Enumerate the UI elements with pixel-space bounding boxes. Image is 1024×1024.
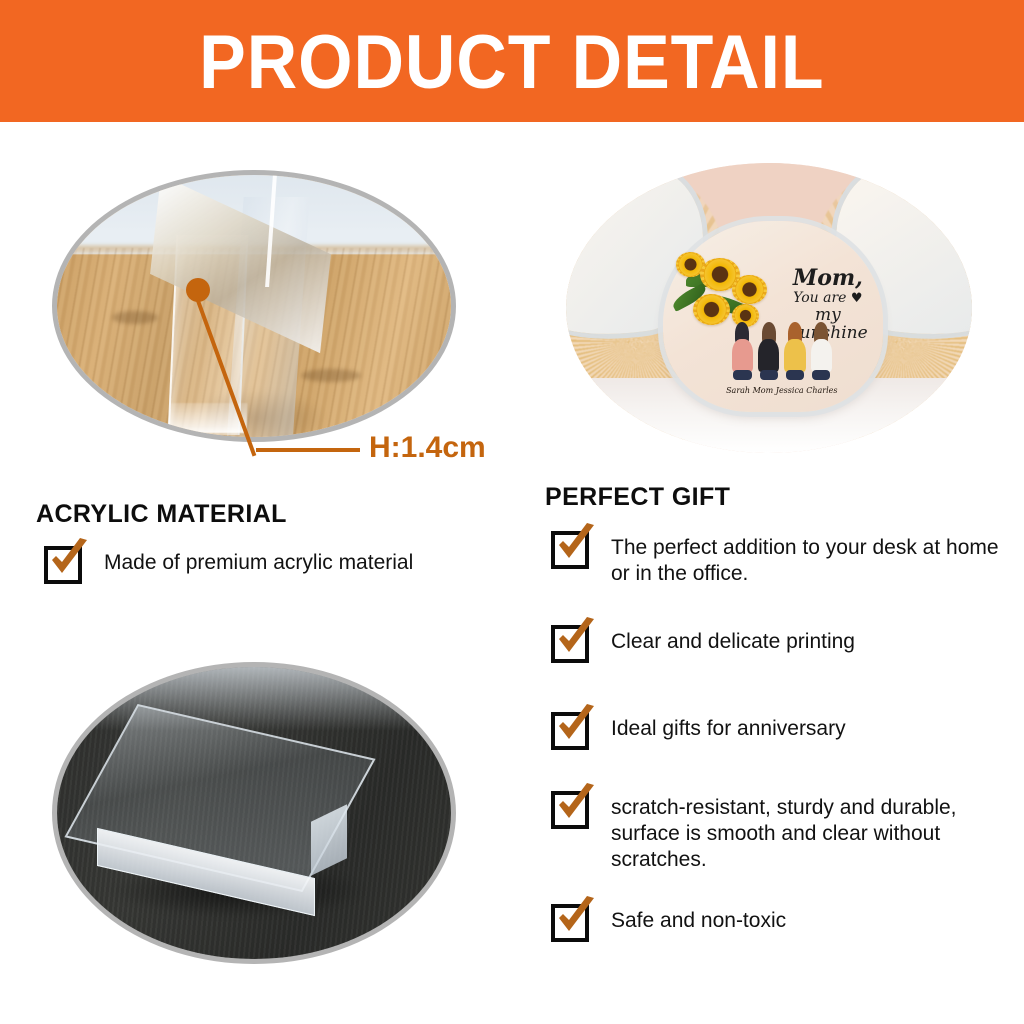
figure-legs <box>812 370 830 380</box>
name-label: Mom <box>753 386 774 395</box>
figure-torso <box>784 339 805 372</box>
header-banner: PRODUCT DETAIL <box>0 0 1024 122</box>
checkbox-checked[interactable] <box>551 531 589 569</box>
wood-background <box>57 175 451 437</box>
checkbox-checked[interactable] <box>551 904 589 942</box>
slate-background <box>57 667 451 959</box>
check-icon <box>553 895 599 941</box>
figure-legs <box>786 370 804 380</box>
plaque-text-line-2-words: You are <box>793 290 846 306</box>
sunflower <box>693 294 730 325</box>
plaque-acrylic-body: Mom, You are ♥ my Sunshine <box>663 221 882 412</box>
feature-item: The perfect addition to your desk at hom… <box>551 531 999 587</box>
name-label: Sarah <box>726 386 750 395</box>
thickness-leader-line-horizontal <box>256 448 360 452</box>
feature-text: Clear and delicate printing <box>611 629 855 655</box>
family-figures <box>729 322 834 379</box>
checkbox-checked[interactable] <box>551 791 589 829</box>
figure-legs <box>760 370 778 380</box>
check-icon <box>553 703 599 749</box>
feature-item: Clear and delicate printing <box>551 625 999 663</box>
figure-charles <box>809 322 834 379</box>
check-icon <box>553 522 599 568</box>
feature-text: Safe and non-toxic <box>611 908 786 934</box>
feature-item: Safe and non-toxic <box>551 904 999 942</box>
figure-torso <box>811 339 832 372</box>
page-title: PRODUCT DETAIL <box>199 25 824 101</box>
heart-icon: ♥ <box>851 291 863 306</box>
plaque-text-line-1: Mom, <box>777 267 878 290</box>
check-icon <box>46 537 92 583</box>
figure-sarah <box>730 322 755 379</box>
feature-item: scratch-resistant, sturdy and durable, s… <box>551 791 1001 873</box>
section-heading-acrylic-material: ACRYLIC MATERIAL <box>36 500 287 529</box>
figure-legs <box>733 370 751 380</box>
butterfly-acrylic-plaque-photo: Mom, You are ♥ my Sunshine <box>566 163 972 453</box>
feature-text: scratch-resistant, sturdy and durable, s… <box>611 795 1001 873</box>
feature-text: Made of premium acrylic material <box>104 550 413 576</box>
figure-jessica <box>782 322 807 379</box>
check-icon <box>553 616 599 662</box>
section-heading-perfect-gift: PERFECT GIFT <box>545 483 730 512</box>
family-name-labels: Sarah Mom Jessica Charles <box>725 386 839 395</box>
checkbox-checked[interactable] <box>551 712 589 750</box>
checkbox-checked[interactable] <box>44 546 82 584</box>
acrylic-edge-on-wood-photo <box>52 170 456 442</box>
feature-text: The perfect addition to your desk at hom… <box>611 535 999 587</box>
name-label: Jessica <box>776 386 804 395</box>
sunflower <box>732 275 766 304</box>
check-icon <box>553 782 599 828</box>
checkbox-checked[interactable] <box>551 625 589 663</box>
feature-text: Ideal gifts for anniversary <box>611 716 846 742</box>
acrylic-block-on-slate-photo <box>52 662 456 964</box>
feature-item: Made of premium acrylic material <box>44 546 514 584</box>
figure-torso <box>758 339 779 372</box>
name-label: Charles <box>806 386 837 395</box>
figure-mom <box>756 322 781 379</box>
plaque-photo-background: Mom, You are ♥ my Sunshine <box>566 163 972 453</box>
thickness-callout-label: H:1.4cm <box>369 431 486 465</box>
figure-torso <box>732 339 753 372</box>
wood-knot <box>301 369 361 382</box>
plaque-text-line-2: You are ♥ <box>777 291 878 306</box>
feature-item: Ideal gifts for anniversary <box>551 712 999 750</box>
